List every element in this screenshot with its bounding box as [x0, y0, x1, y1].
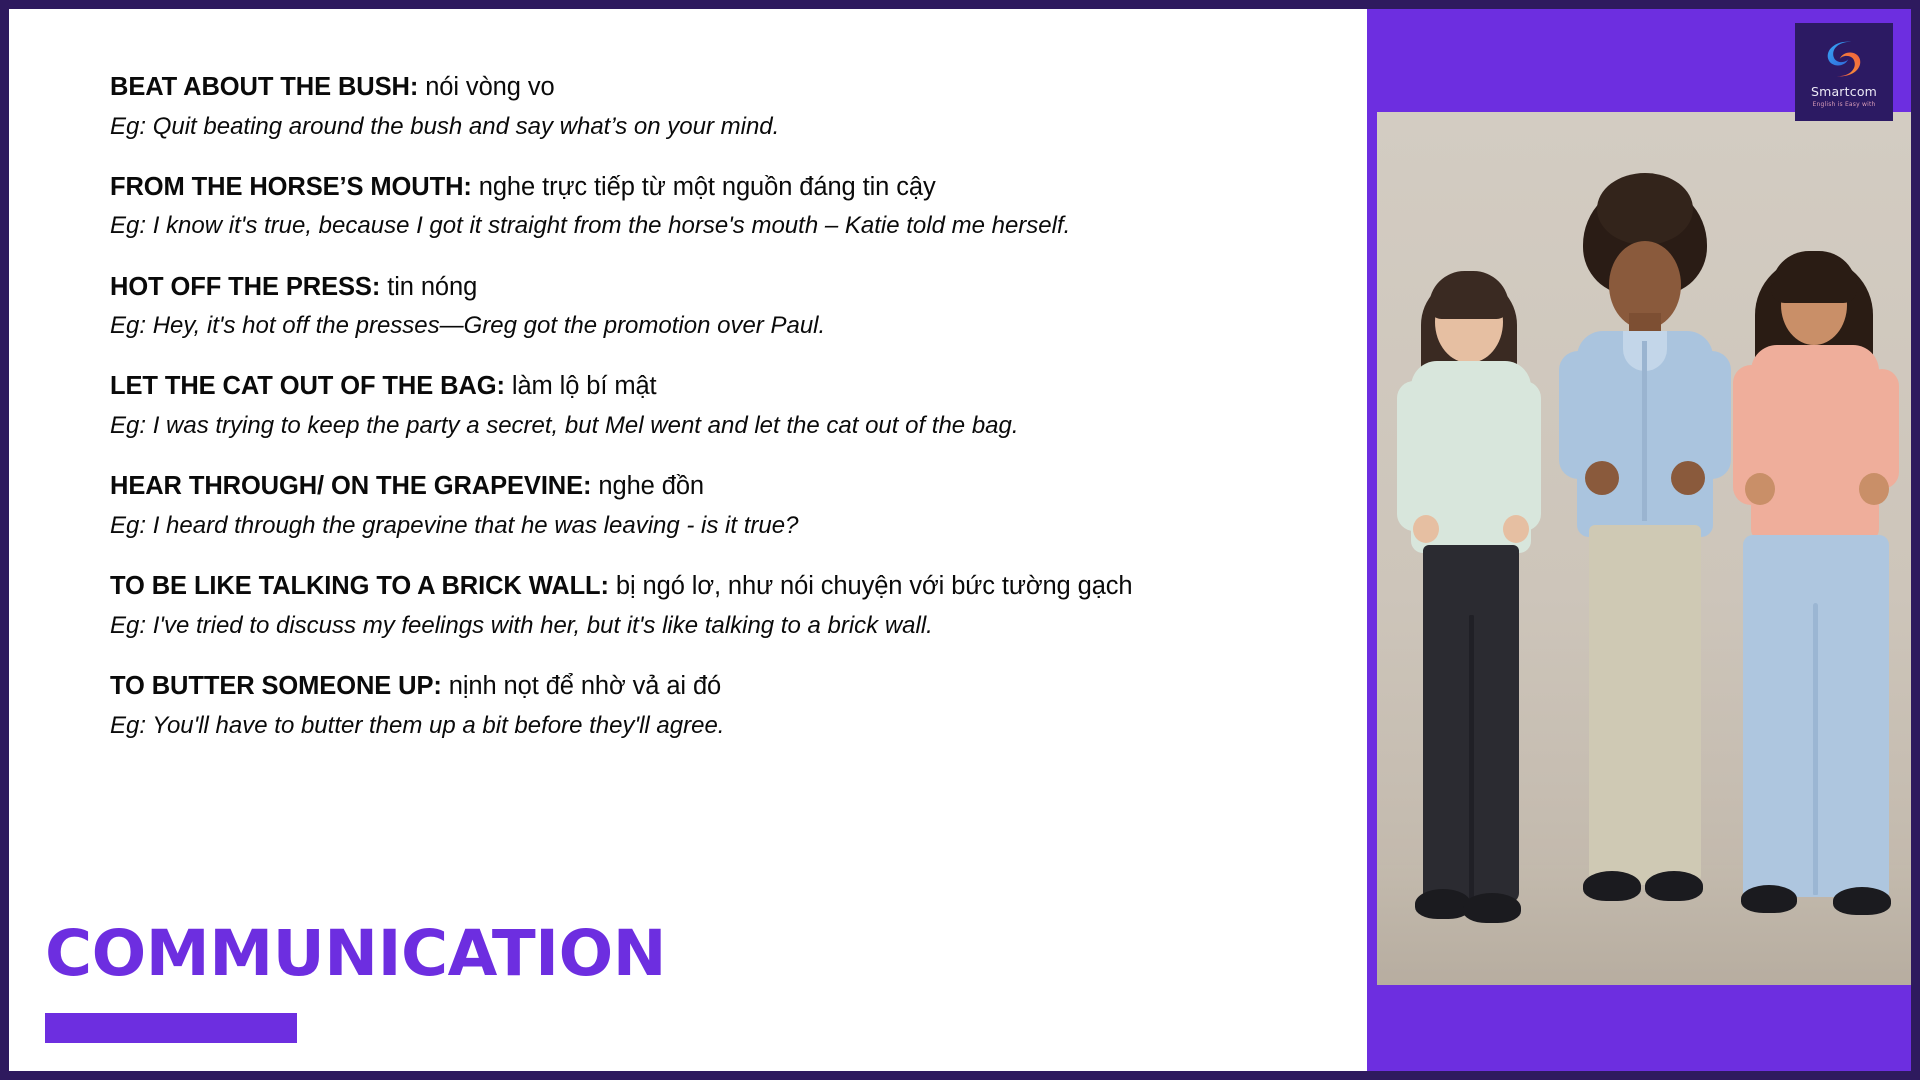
smartcom-logo: Smartcom English is Easy with — [1795, 23, 1893, 121]
hand-right — [1503, 515, 1529, 543]
idiom-term: FROM THE HORSE’S MOUTH: — [110, 173, 472, 201]
list-item: TO BE LIKE TALKING TO A BRICK WALL: bị n… — [110, 570, 1367, 642]
hair-top — [1597, 173, 1693, 245]
idiom-example: Eg: I heard through the grapevine that h… — [110, 510, 1367, 542]
idiom-heading: BEAT ABOUT THE BUSH: nói vòng vo — [110, 71, 1367, 105]
logo-wordmark: Smartcom — [1811, 84, 1877, 99]
idiom-translation: làm lộ bí mật — [505, 372, 657, 400]
hair-top — [1429, 271, 1509, 319]
example-sentence: Quit beating around the bush and say wha… — [146, 113, 779, 140]
example-sentence: Hey, it's hot off the presses—Greg got t… — [146, 312, 825, 339]
idiom-heading: LET THE CAT OUT OF THE BAG: làm lộ bí mậ… — [110, 370, 1367, 404]
list-item: HEAR THROUGH/ ON THE GRAPEVINE: nghe đồn… — [110, 470, 1367, 542]
idiom-translation: nói vòng vo — [418, 73, 554, 101]
idiom-term: LET THE CAT OUT OF THE BAG: — [110, 372, 505, 400]
legs — [1589, 525, 1701, 885]
person-right — [1729, 173, 1907, 985]
list-item: LET THE CAT OUT OF THE BAG: làm lộ bí mậ… — [110, 370, 1367, 442]
idiom-term: TO BE LIKE TALKING TO A BRICK WALL: — [110, 572, 609, 600]
list-item: BEAT ABOUT THE BUSH: nói vòng vo Eg: Qui… — [110, 71, 1367, 143]
example-label: Eg: — [110, 212, 146, 239]
photo-panel: Smartcom English is Easy with — [1367, 9, 1911, 1071]
idiom-example: Eg: You'll have to butter them up a bit … — [110, 710, 1367, 742]
slide-canvas: BEAT ABOUT THE BUSH: nói vòng vo Eg: Qui… — [0, 0, 1920, 1080]
idiom-example: Eg: I was trying to keep the party a sec… — [110, 410, 1367, 442]
idiom-translation: tin nóng — [380, 273, 477, 301]
idiom-example: Eg: I've tried to discuss my feelings wi… — [110, 610, 1367, 642]
title-underline-bar — [45, 1013, 297, 1043]
example-label: Eg: — [110, 412, 146, 439]
shoe-left — [1583, 871, 1641, 901]
idiom-translation: nịnh nọt để nhờ vả ai đó — [442, 672, 721, 700]
idiom-list-panel: BEAT ABOUT THE BUSH: nói vòng vo Eg: Qui… — [9, 9, 1367, 1071]
list-item: TO BUTTER SOMEONE UP: nịnh nọt để nhờ vả… — [110, 670, 1367, 742]
idiom-example: Eg: I know it's true, because I got it s… — [110, 210, 1367, 242]
example-label: Eg: — [110, 312, 146, 339]
example-label: Eg: — [110, 113, 146, 140]
three-women-talking-photo — [1377, 112, 1911, 985]
idiom-term: BEAT ABOUT THE BUSH: — [110, 73, 418, 101]
example-sentence: I was trying to keep the party a secret,… — [146, 412, 1019, 439]
shoe-right — [1645, 871, 1703, 901]
example-sentence: You'll have to butter them up a bit befo… — [146, 712, 724, 739]
idiom-heading: FROM THE HORSE’S MOUTH: nghe trực tiếp t… — [110, 171, 1367, 205]
shirt-placket — [1642, 341, 1647, 521]
leg-seam — [1469, 615, 1474, 903]
idiom-translation: bị ngó lơ, như nói chuyện với bức tường … — [609, 572, 1133, 600]
hand-right — [1859, 473, 1889, 505]
shoe-right — [1463, 893, 1521, 923]
torso — [1751, 345, 1879, 541]
idiom-example: Eg: Quit beating around the bush and say… — [110, 111, 1367, 143]
idiom-heading: TO BE LIKE TALKING TO A BRICK WALL: bị n… — [110, 570, 1367, 604]
example-sentence: I know it's true, because I got it strai… — [146, 212, 1070, 239]
person-center — [1545, 155, 1745, 985]
idiom-example: Eg: Hey, it's hot off the presses—Greg g… — [110, 310, 1367, 342]
list-item: HOT OFF THE PRESS: tin nóng Eg: Hey, it'… — [110, 271, 1367, 343]
hand-left — [1585, 461, 1619, 495]
hand-left — [1745, 473, 1775, 505]
example-label: Eg: — [110, 712, 146, 739]
idiom-term: HOT OFF THE PRESS: — [110, 273, 380, 301]
logo-tagline: English is Easy with — [1812, 101, 1875, 108]
page-title: COMMUNICATION — [45, 922, 666, 985]
idiom-translation: nghe trực tiếp từ một nguồn đáng tin cậy — [472, 173, 936, 201]
example-sentence: I heard through the grapevine that he wa… — [146, 512, 798, 539]
idiom-term: HEAR THROUGH/ ON THE GRAPEVINE: — [110, 472, 591, 500]
hand-left — [1413, 515, 1439, 543]
hand-right — [1671, 461, 1705, 495]
idiom-heading: HEAR THROUGH/ ON THE GRAPEVINE: nghe đồn — [110, 470, 1367, 504]
example-label: Eg: — [110, 612, 146, 639]
example-label: Eg: — [110, 512, 146, 539]
shoe-left — [1741, 885, 1797, 913]
idiom-translation: nghe đồn — [591, 472, 704, 500]
hair-top — [1771, 251, 1857, 303]
person-left — [1391, 185, 1551, 985]
title-block: COMMUNICATION — [45, 922, 654, 1043]
list-item: FROM THE HORSE’S MOUTH: nghe trực tiếp t… — [110, 171, 1367, 243]
idiom-heading: TO BUTTER SOMEONE UP: nịnh nọt để nhờ vả… — [110, 670, 1367, 704]
smartcom-s-swirl-icon — [1821, 36, 1867, 82]
example-sentence: I've tried to discuss my feelings with h… — [146, 612, 933, 639]
leg-seam — [1813, 603, 1818, 895]
idiom-heading: HOT OFF THE PRESS: tin nóng — [110, 271, 1367, 305]
idiom-term: TO BUTTER SOMEONE UP: — [110, 672, 442, 700]
shoe-right — [1833, 887, 1891, 915]
